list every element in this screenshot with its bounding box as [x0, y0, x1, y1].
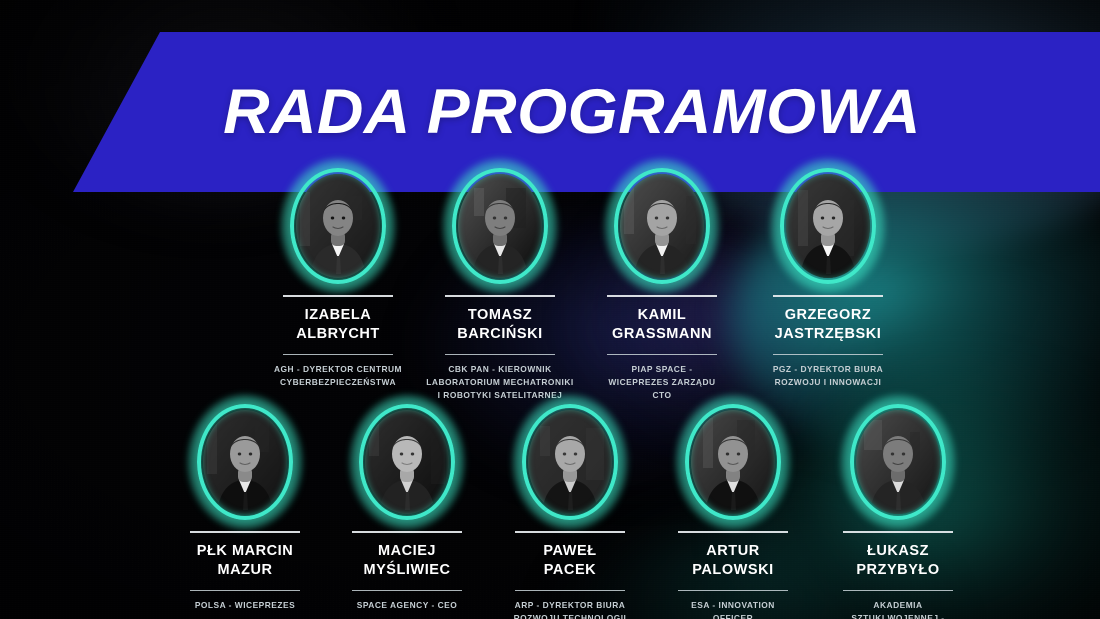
member-name: KAMIL GRASSMANN — [612, 306, 712, 345]
name-divider-bottom — [283, 354, 393, 356]
name-divider-top — [352, 531, 462, 533]
member-name: MACIEJ MYŚLIWIEC — [363, 542, 450, 581]
avatar — [522, 404, 618, 520]
avatar — [614, 168, 710, 284]
member-name: TOMASZ BARCIŃSKI — [457, 306, 543, 345]
name-divider-top — [445, 295, 555, 297]
council-members-grid: IZABELA ALBRYCHTAGH - DYREKTOR CENTRUM C… — [0, 0, 1100, 619]
council-member-card: TOMASZ BARCIŃSKICBK PAN - KIEROWNIK LABO… — [416, 168, 584, 402]
member-name: ARTUR PALOWSKI — [692, 542, 773, 581]
member-role: AKADEMIA SZTUKI WOJENNEJ - WYKŁADOWCA — [851, 599, 944, 619]
member-role: ARP - DYREKTOR BIURA ROZWOJU TECHNOLOGII — [514, 599, 627, 619]
avatar — [197, 404, 293, 520]
name-divider-bottom — [607, 354, 717, 356]
avatar — [290, 168, 386, 284]
name-divider-top — [190, 531, 300, 533]
member-name: PŁK MARCIN MAZUR — [197, 542, 294, 581]
member-role: AGH - DYREKTOR CENTRUM CYBERBEZPIECZEŃST… — [274, 363, 402, 389]
member-role: POLSA - WICEPREZES — [195, 599, 295, 612]
member-name: ŁUKASZ PRZYBYŁO — [856, 542, 939, 581]
name-divider-bottom — [190, 590, 300, 592]
name-divider-top — [283, 295, 393, 297]
avatar — [685, 404, 781, 520]
council-member-card: PŁK MARCIN MAZURPOLSA - WICEPREZES — [161, 404, 329, 612]
name-divider-bottom — [843, 590, 953, 592]
name-divider-bottom — [515, 590, 625, 592]
name-divider-top — [773, 295, 883, 297]
name-divider-bottom — [352, 590, 462, 592]
avatar-ring-icon — [614, 168, 710, 284]
name-divider-bottom — [445, 354, 555, 356]
member-role: PGZ - DYREKTOR BIURA ROZWOJU I INNOWACJI — [773, 363, 883, 389]
avatar — [780, 168, 876, 284]
name-divider-bottom — [678, 590, 788, 592]
member-role: ESA - INNOVATION OFFICER — [691, 599, 775, 619]
avatar — [359, 404, 455, 520]
council-member-card: PAWEŁ PACEKARP - DYREKTOR BIURA ROZWOJU … — [486, 404, 654, 619]
avatar-ring-icon — [780, 168, 876, 284]
avatar — [850, 404, 946, 520]
avatar-ring-icon — [197, 404, 293, 520]
member-role: CBK PAN - KIEROWNIK LABORATORIUM MECHATR… — [426, 363, 573, 402]
council-member-card: ARTUR PALOWSKIESA - INNOVATION OFFICER — [649, 404, 817, 619]
name-divider-top — [607, 295, 717, 297]
avatar — [452, 168, 548, 284]
member-name: IZABELA ALBRYCHT — [296, 306, 380, 345]
member-role: SPACE AGENCY - CEO — [357, 599, 458, 612]
avatar-ring-icon — [290, 168, 386, 284]
avatar-ring-icon — [452, 168, 548, 284]
council-member-card: ŁUKASZ PRZYBYŁOAKADEMIA SZTUKI WOJENNEJ … — [814, 404, 982, 619]
avatar-ring-icon — [522, 404, 618, 520]
avatar-ring-icon — [850, 404, 946, 520]
name-divider-bottom — [773, 354, 883, 356]
name-divider-top — [515, 531, 625, 533]
name-divider-top — [678, 531, 788, 533]
member-role: PIAP SPACE - WICEPREZES ZARZĄDU CTO — [608, 363, 715, 402]
council-member-card: GRZEGORZ JASTRZĘBSKIPGZ - DYREKTOR BIURA… — [744, 168, 912, 389]
council-member-card: IZABELA ALBRYCHTAGH - DYREKTOR CENTRUM C… — [254, 168, 422, 389]
avatar-ring-icon — [685, 404, 781, 520]
council-member-card: KAMIL GRASSMANNPIAP SPACE - WICEPREZES Z… — [578, 168, 746, 402]
name-divider-top — [843, 531, 953, 533]
member-name: PAWEŁ PACEK — [543, 542, 596, 581]
council-member-card: MACIEJ MYŚLIWIECSPACE AGENCY - CEO — [323, 404, 491, 612]
avatar-ring-icon — [359, 404, 455, 520]
member-name: GRZEGORZ JASTRZĘBSKI — [775, 306, 882, 345]
